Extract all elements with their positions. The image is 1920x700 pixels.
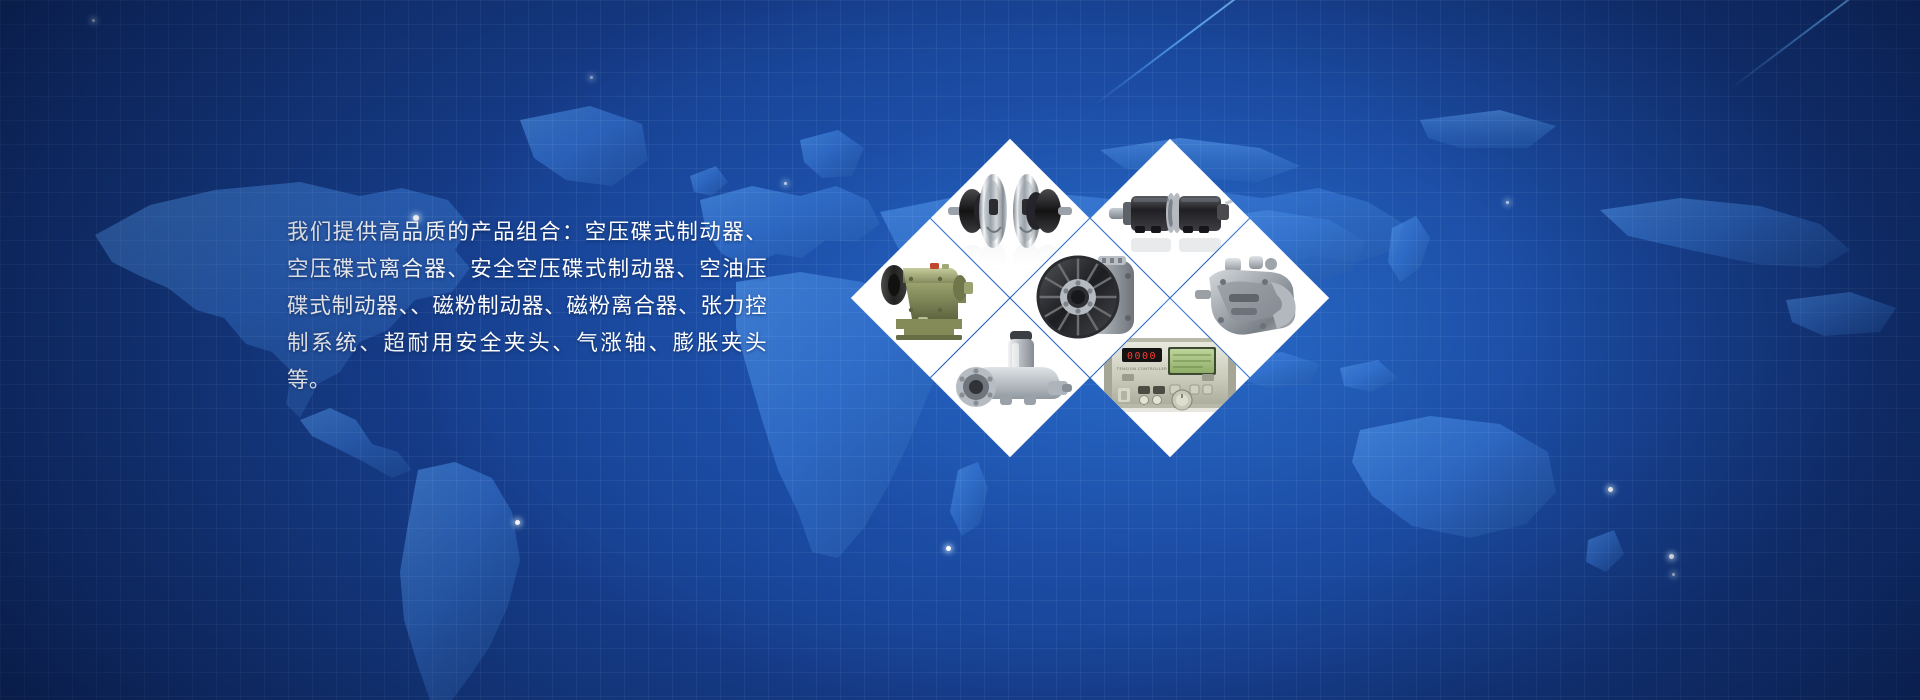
controller-brand-label: TENSION CONTROLLER <box>1116 367 1167 371</box>
star-1 <box>92 19 95 22</box>
star-5 <box>1506 201 1509 204</box>
star-8 <box>1672 573 1675 576</box>
star-4 <box>784 182 787 185</box>
star-12 <box>946 546 951 551</box>
banner-description: 我们提供高品质的产品组合：空压碟式制动器、空压碟式离合器、安全空压碟式制动器、空… <box>287 214 767 399</box>
star-6 <box>1608 487 1613 492</box>
star-14 <box>590 76 593 79</box>
product-diamond-grid: 0000 TENSION CONTROLLER <box>880 140 1260 440</box>
hero-banner: 我们提供高品质的产品组合：空压碟式制动器、空压碟式离合器、安全空压碟式制动器、空… <box>0 0 1920 700</box>
star-7 <box>1669 554 1674 559</box>
star-11 <box>515 520 520 525</box>
controller-display-value: 0000 <box>1127 351 1157 362</box>
